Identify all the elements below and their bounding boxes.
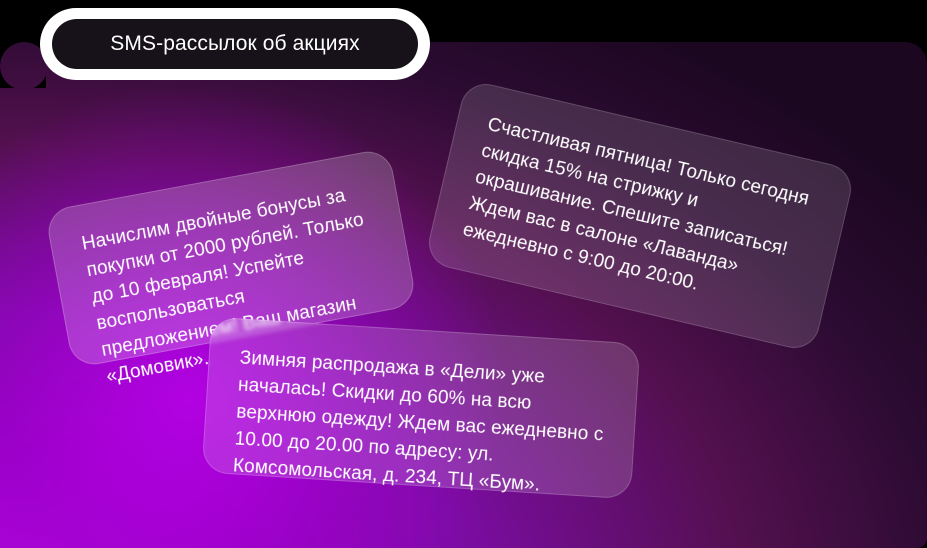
section-badge[interactable]: SMS-рассылок об акциях — [40, 8, 430, 80]
section-badge-inner: SMS-рассылок об акциях — [52, 19, 418, 69]
sms-card-text: Зимняя распродажа в «Дели» уже началась!… — [232, 346, 608, 504]
screenshot-canvas: SMS-рассылок об акциях Начислим двойные … — [0, 0, 927, 548]
sms-card-deli[interactable]: Зимняя распродажа в «Дели» уже началась!… — [202, 317, 641, 500]
section-badge-label: SMS-рассылок об акциях — [110, 32, 359, 56]
